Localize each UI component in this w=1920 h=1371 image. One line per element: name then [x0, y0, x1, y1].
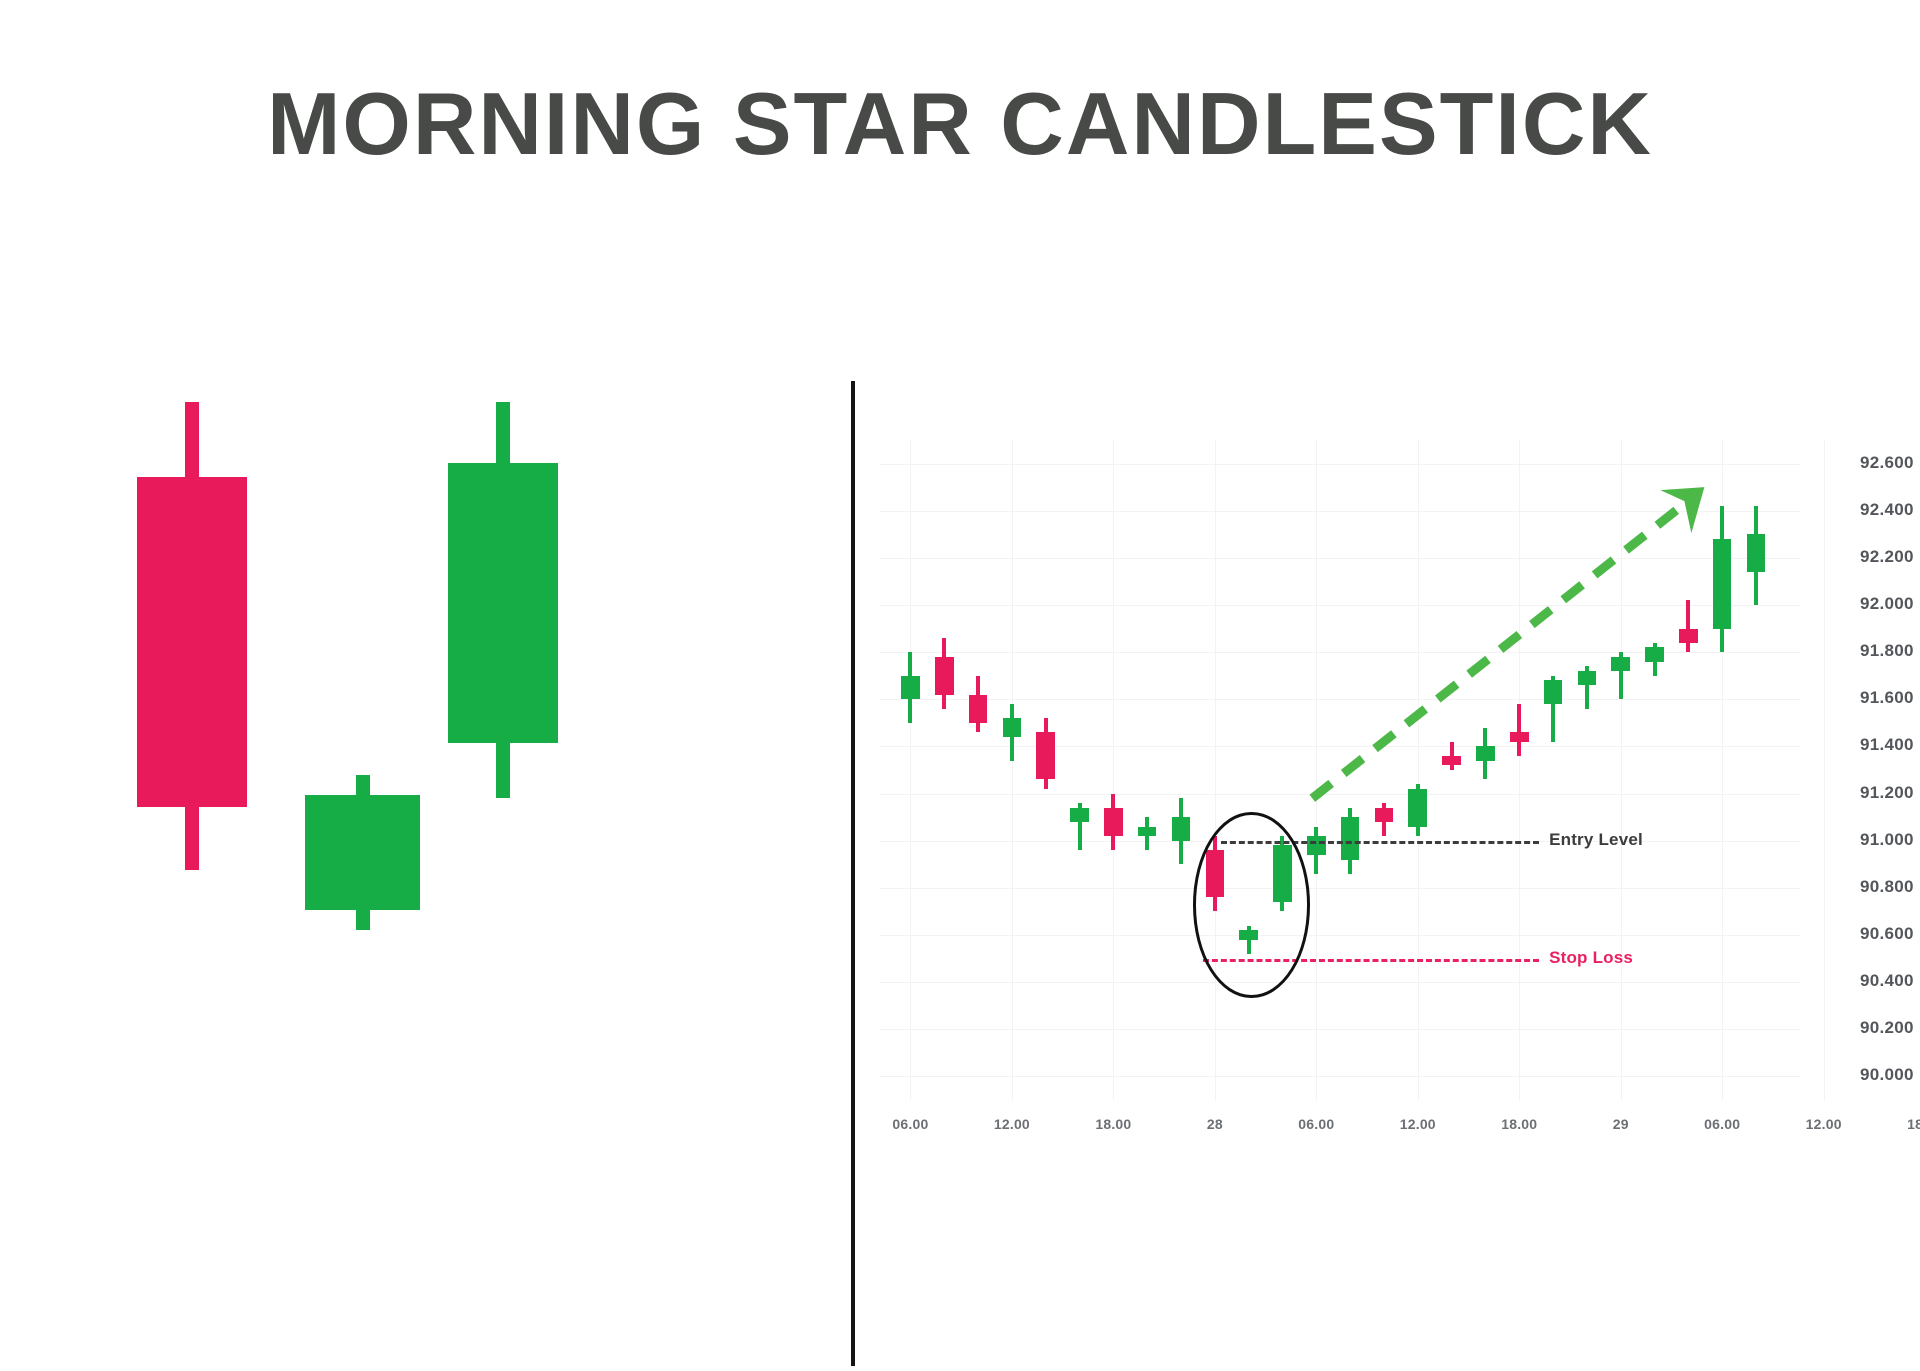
illustration-candle-2	[305, 380, 420, 1020]
candlestick	[1408, 440, 1427, 1100]
candlestick	[1003, 440, 1022, 1100]
candlestick-chart: Entry LevelStop Loss 92.60092.40092.2009…	[860, 380, 1920, 1160]
candlestick	[1070, 440, 1089, 1100]
y-axis-label: 92.600	[1860, 453, 1914, 473]
candlestick-body	[1713, 539, 1732, 629]
illustration-candle-3	[448, 380, 558, 1020]
candlestick-body	[1138, 827, 1157, 836]
candlestick-body	[1408, 789, 1427, 827]
pattern-illustration	[0, 380, 840, 1020]
candlestick-body	[1307, 836, 1326, 855]
panel-divider	[851, 381, 855, 1366]
candlestick-body	[1679, 629, 1698, 643]
candlestick-body	[1036, 732, 1055, 779]
pattern-highlight-ellipse	[1193, 812, 1309, 997]
y-axis-label: 91.200	[1860, 783, 1914, 803]
candlestick-body	[1104, 808, 1123, 836]
x-axis-label: 28	[1207, 1116, 1223, 1132]
candlestick	[1104, 440, 1123, 1100]
candlestick-wick	[1517, 704, 1521, 756]
trend-arrow-line	[1312, 499, 1690, 798]
y-axis-label: 90.800	[1860, 877, 1914, 897]
x-axis-label: 12.00	[1806, 1116, 1842, 1132]
candlestick-body	[1645, 647, 1664, 661]
y-axis-label: 91.600	[1860, 688, 1914, 708]
y-axis-label: 90.000	[1860, 1065, 1914, 1085]
illustration-candle-body	[448, 463, 558, 743]
x-axis-label: 29	[1613, 1116, 1629, 1132]
candlestick	[1544, 440, 1563, 1100]
page-root: MORNING STAR CANDLESTICK Entry LevelStop…	[0, 0, 1920, 1371]
candlestick-body	[1442, 756, 1461, 765]
candlestick	[1172, 440, 1191, 1100]
candlestick	[1206, 440, 1225, 1100]
x-axis-label: 12.00	[994, 1116, 1030, 1132]
candlestick-body	[901, 676, 920, 700]
y-axis-label: 90.400	[1860, 971, 1914, 991]
entry-level-label: Entry Level	[1549, 830, 1643, 850]
x-axis-label: 18.00	[1095, 1116, 1131, 1132]
candlestick-body	[1375, 808, 1394, 822]
x-axis-label: 18.00	[1501, 1116, 1537, 1132]
y-axis-label: 90.600	[1860, 924, 1914, 944]
x-axis-label: 06.00	[1298, 1116, 1334, 1132]
illustration-candle-body	[137, 477, 247, 807]
candlestick	[969, 440, 988, 1100]
gridline-vertical	[1824, 440, 1825, 1100]
page-title: MORNING STAR CANDLESTICK	[0, 80, 1920, 168]
candlestick-body	[1476, 746, 1495, 760]
candlestick	[1578, 440, 1597, 1100]
stop-loss-label: Stop Loss	[1549, 948, 1633, 968]
candlestick	[1239, 440, 1258, 1100]
candlestick-body	[1544, 680, 1563, 704]
x-axis-label: 06.00	[892, 1116, 928, 1132]
candlestick	[1679, 440, 1698, 1100]
candlestick-body	[969, 695, 988, 723]
candlestick	[1611, 440, 1630, 1100]
candlestick	[1747, 440, 1766, 1100]
candlestick-body	[1747, 534, 1766, 572]
chart-plot-area: Entry LevelStop Loss	[880, 440, 1800, 1100]
candlestick-body	[1070, 808, 1089, 822]
y-axis-label: 90.200	[1860, 1018, 1914, 1038]
x-axis-label: 12.00	[1400, 1116, 1436, 1132]
candlestick	[1476, 440, 1495, 1100]
candlestick-body	[1341, 817, 1360, 859]
candlestick	[1036, 440, 1055, 1100]
y-axis-label: 91.400	[1860, 735, 1914, 755]
y-axis-label: 92.400	[1860, 500, 1914, 520]
candlestick-body	[1611, 657, 1630, 671]
candlestick	[901, 440, 920, 1100]
y-axis-label: 92.200	[1860, 547, 1914, 567]
candlestick	[1273, 440, 1292, 1100]
candlestick-body	[1510, 732, 1529, 741]
illustration-candle-body	[305, 795, 420, 910]
candlestick-wick	[1686, 600, 1690, 652]
candlestick	[1375, 440, 1394, 1100]
candlestick	[1341, 440, 1360, 1100]
candlestick-body	[1172, 817, 1191, 841]
candlestick	[1307, 440, 1326, 1100]
candlestick	[935, 440, 954, 1100]
candlestick	[1138, 440, 1157, 1100]
x-axis-label: 18.00	[1907, 1116, 1920, 1132]
candlestick	[1442, 440, 1461, 1100]
y-axis-label: 91.000	[1860, 830, 1914, 850]
y-axis-label: 91.800	[1860, 641, 1914, 661]
candlestick-body	[1578, 671, 1597, 685]
y-axis-label: 92.000	[1860, 594, 1914, 614]
candlestick	[1645, 440, 1664, 1100]
candlestick-body	[1003, 718, 1022, 737]
x-axis-label: 06.00	[1704, 1116, 1740, 1132]
candlestick	[1510, 440, 1529, 1100]
illustration-candle-1	[137, 380, 247, 1020]
candlestick-body	[935, 657, 954, 695]
candlestick	[1713, 440, 1732, 1100]
